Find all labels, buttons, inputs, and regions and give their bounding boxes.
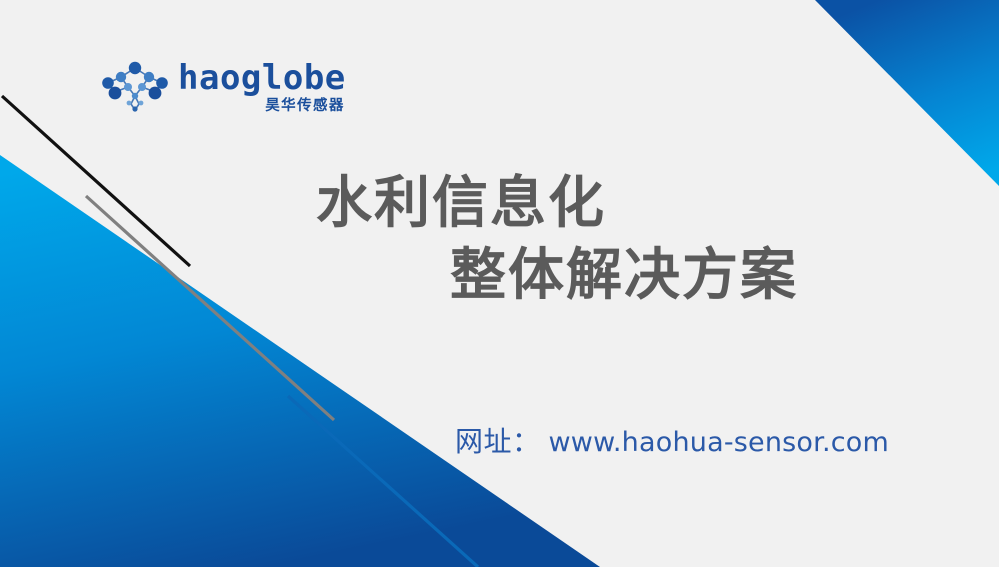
- top-right-triangle: [815, 0, 999, 186]
- logo-text-group: haoglobe 昊华传感器: [178, 61, 346, 113]
- slide-title: 水利信息化 整体解决方案: [316, 168, 916, 311]
- presentation-slide: haoglobe 昊华传感器 水利信息化 整体解决方案 网址： www.haoh…: [0, 0, 999, 567]
- network-dots-icon-svg: [98, 58, 172, 116]
- website-label: 网址：: [455, 420, 541, 460]
- website-url[interactable]: www.haohua-sensor.com: [549, 427, 890, 458]
- network-dots-icon: [98, 58, 172, 116]
- company-logo: haoglobe 昊华传感器: [98, 58, 346, 116]
- logo-company-name-cn: 昊华传感器: [265, 99, 345, 114]
- title-line-2: 整体解决方案: [450, 240, 916, 312]
- website-line: 网址： www.haohua-sensor.com: [455, 420, 889, 460]
- logo-wordmark: haoglobe: [178, 61, 346, 96]
- title-line-1: 水利信息化: [316, 168, 916, 240]
